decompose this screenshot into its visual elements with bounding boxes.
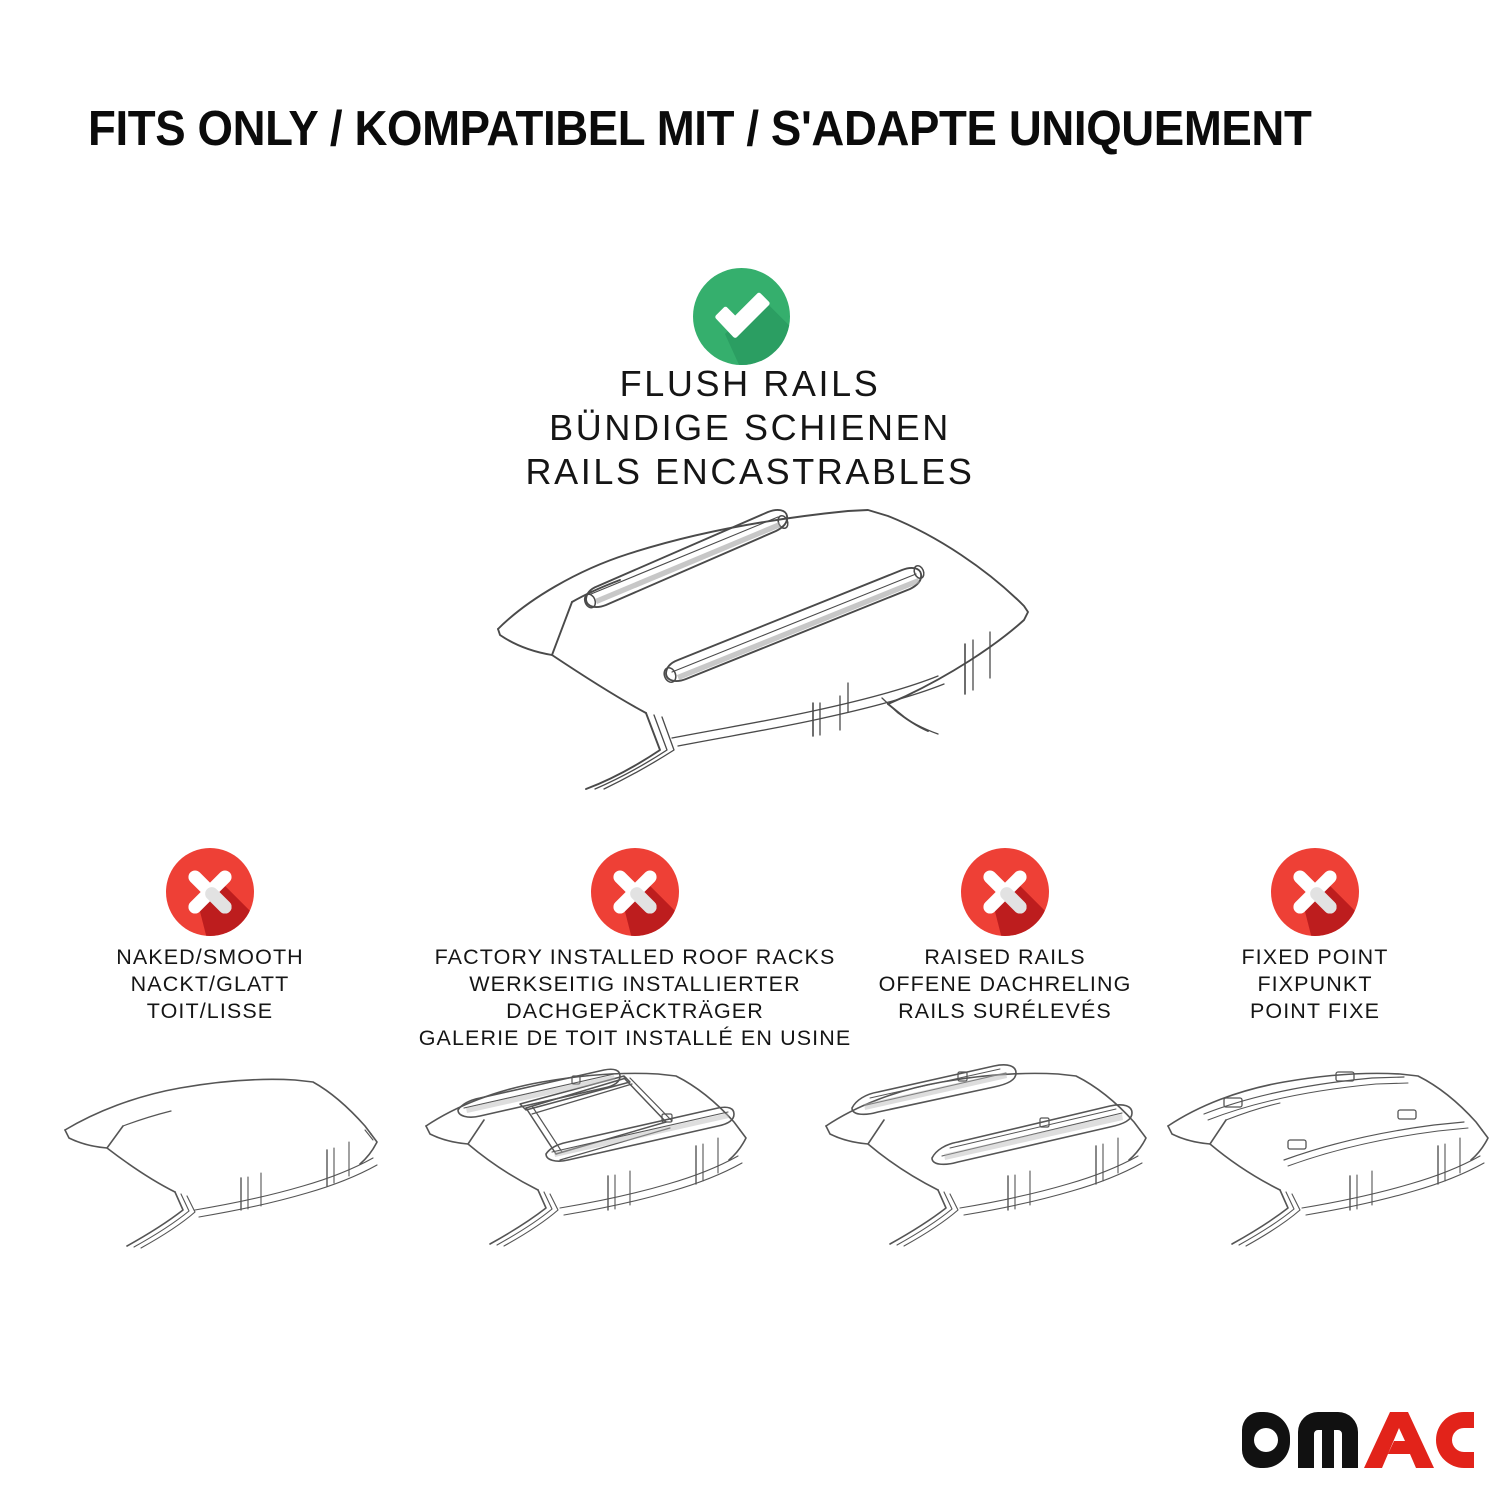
incompatible-label: FIXED POINT FIXPUNKT POINT FIXE (1241, 944, 1388, 1025)
compatible-label-line: FLUSH RAILS (350, 362, 1150, 406)
page-title: FITS ONLY / KOMPATIBEL MIT / S'ADAPTE UN… (88, 104, 1334, 155)
car-roof-raised-rails-illustration (818, 1048, 1178, 1290)
incompatible-label: RAISED RAILS OFFENE DACHRELING RAILS SUR… (879, 944, 1132, 1025)
car-roof-naked-smooth-illustration (55, 1058, 395, 1290)
omac-logo: OMAC (1238, 1408, 1474, 1480)
cross-circle-icon (1271, 848, 1359, 936)
incompatible-label-line: DACHGEPÄCKTRÄGER (419, 998, 852, 1025)
compatible-label: FLUSH RAILS BÜNDIGE SCHIENEN RAILS ENCAS… (350, 362, 1150, 494)
incompatible-label-line: TOIT/LISSE (116, 998, 304, 1025)
car-roof-fixed-point-illustration (1158, 1048, 1500, 1290)
compatible-label-line: BÜNDIGE SCHIENEN (350, 406, 1150, 450)
incompatible-label: NAKED/SMOOTH NACKT/GLATT TOIT/LISSE (116, 944, 304, 1025)
incompatible-label-line: OFFENE DACHRELING (879, 971, 1132, 998)
incompatible-label-line: FIXPUNKT (1241, 971, 1388, 998)
car-roof-factory-roof-racks-illustration (418, 1048, 778, 1290)
car-roof-flush-rails-illustration (468, 498, 1044, 790)
incompatible-label-line: NACKT/GLATT (116, 971, 304, 998)
infographic-page: FITS ONLY / KOMPATIBEL MIT / S'ADAPTE UN… (0, 0, 1500, 1500)
incompatible-label-line: NAKED/SMOOTH (116, 944, 304, 971)
cross-circle-icon (961, 848, 1049, 936)
incompatible-label-line: RAILS SURÉLEVÉS (879, 998, 1132, 1025)
incompatible-label-line: FIXED POINT (1241, 944, 1388, 971)
incompatible-label-line: WERKSEITIG INSTALLIERTER (419, 971, 852, 998)
incompatible-label-line: POINT FIXE (1241, 998, 1388, 1025)
cross-circle-icon (591, 848, 679, 936)
incompatible-label: FACTORY INSTALLED ROOF RACKS WERKSEITIG … (419, 944, 852, 1052)
incompatible-label-line: FACTORY INSTALLED ROOF RACKS (419, 944, 852, 971)
check-circle-icon (693, 268, 790, 365)
compatible-label-line: RAILS ENCASTRABLES (350, 450, 1150, 494)
incompatible-label-line: RAISED RAILS (879, 944, 1132, 971)
cross-circle-icon (166, 848, 254, 936)
